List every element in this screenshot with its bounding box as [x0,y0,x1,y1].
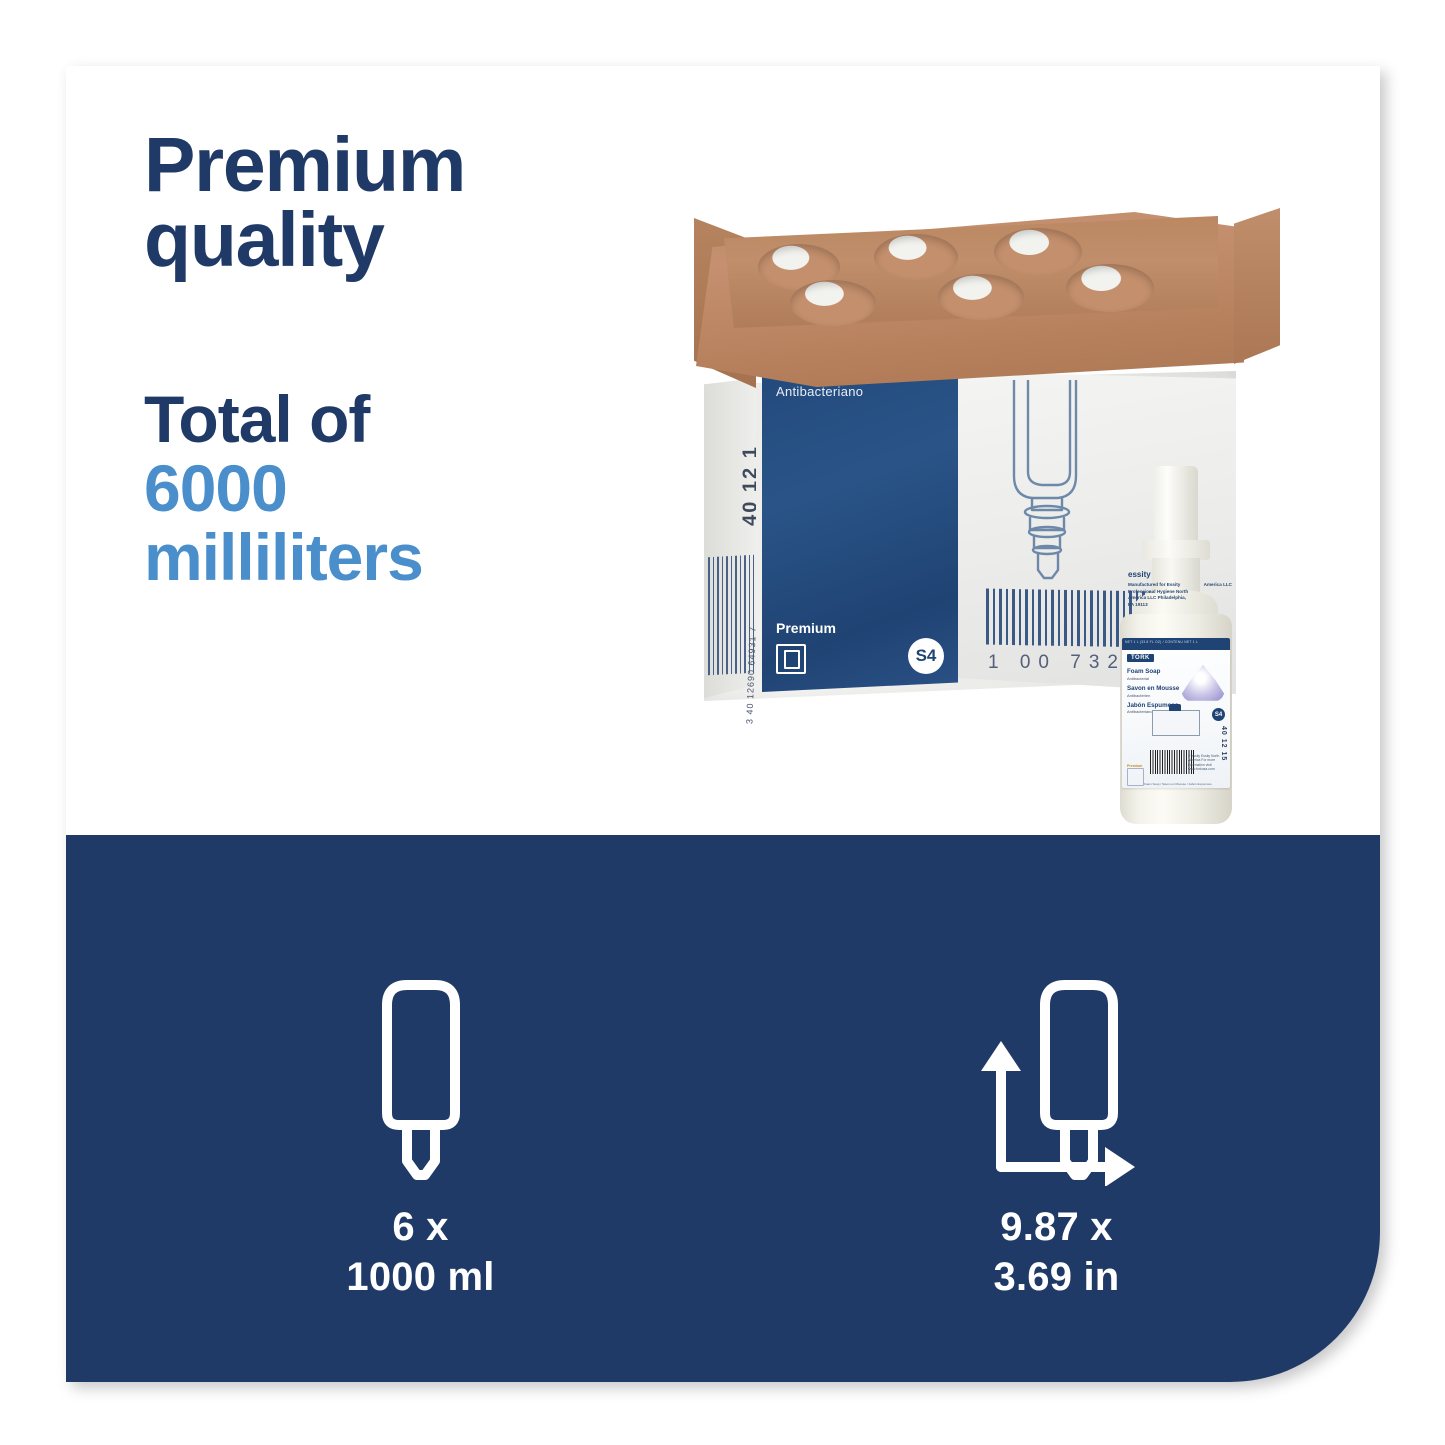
bottle-company-suffix: America LLC [1204,582,1232,587]
carton-flap-right [1234,208,1280,364]
premium-line-2: quality [144,203,624,278]
product-photograph: 40 12 1 3 40 12690 64931 7 Antibacterian… [666,166,1286,826]
bottle-pump-cap [1154,466,1198,544]
headings-block: Premium quality Total of 6000 milliliter… [144,128,624,593]
bottle-manufactured-for-text: Manufactured for Essity Professional Hyg… [1128,582,1190,609]
bottle-icon [365,971,477,1186]
total-volume-value: 6000 milliliters [144,454,624,594]
label-sub-fr: Antibactérien [1127,693,1179,698]
product-info-card: Premium quality Total of 6000 milliliter… [66,66,1380,1382]
label-brand-logo: TORK [1127,654,1154,662]
spec-quantity-caption: 6 x 1000 ml [346,1202,494,1302]
spec-dimensions-line-2: 3.69 in [994,1252,1120,1302]
label-essity-block: © essity Essity North America For more i… [1188,754,1226,772]
top-white-section: Premium quality Total of 6000 milliliter… [66,66,1380,835]
spec-dimensions-caption: 9.87 x 3.69 in [994,1202,1120,1302]
foam-swirl-illustration [1180,664,1226,704]
arrow-up-head [981,1041,1021,1071]
bottle-dimensions-icon [977,971,1137,1186]
premium-line-1: Premium [144,128,624,203]
carton-bottle-top-6 [1066,264,1154,312]
specifications-row: 6 x 1000 ml [66,971,1380,1302]
bottle-pump-collar [1142,540,1210,560]
label-certification-mark [1152,710,1200,736]
label-system-badge: S4 [1212,708,1225,721]
carton-system-badge: S4 [908,638,944,674]
carton-dispenser-icon [776,644,806,674]
carton-premium-label: Premium [776,620,836,636]
volume-unit: milliliters [144,523,624,593]
carton-bottle-top-4 [790,280,876,326]
carton-bottle-top-5 [938,274,1024,320]
spec-quantity-line-2: 1000 ml [346,1252,494,1302]
label-name-en: Foam Soap [1127,668,1179,676]
spec-dimensions: 9.87 x 3.69 in [723,971,1380,1302]
carton-left-barcode-number: 3 40 12690 64931 7 [744,626,757,724]
total-line-1: Total of [144,385,624,454]
dispenser-line-art-icon [984,380,1114,580]
carton-bottle-top-3 [994,228,1082,276]
carton-blue-face: Antibacteriano Premium S4 [762,374,958,692]
label-premium-icon [1127,768,1144,786]
label-footer-text: Foam Soap / Savon en Mousse / Jabón Espu… [1144,782,1212,786]
spec-dimensions-line-1: 9.87 x [994,1202,1120,1252]
label-sub-en: Antibacterial [1127,676,1179,681]
label-name-fr: Savon en Mousse [1127,685,1179,693]
volume-number: 6000 [144,454,624,524]
spec-quantity-line-1: 6 x [346,1202,494,1252]
spec-quantity: 6 x 1000 ml [66,971,723,1302]
label-net-content-strip: NET 1 L (33.8 FL OZ) / CONTENU NET 1 L [1122,638,1230,650]
product-bottle: essity Manufactured for Essity Professio… [1112,466,1240,826]
bottle-essity-logo: essity [1128,570,1151,579]
bottle-front-label: NET 1 L (33.8 FL OZ) / CONTENU NET 1 L T… [1122,638,1230,788]
premium-quality-heading: Premium quality [144,128,624,279]
total-of-heading: Total of [144,385,624,454]
infographic-canvas: Premium quality Total of 6000 milliliter… [0,0,1445,1445]
arrow-right-head [1105,1147,1135,1186]
specifications-section: 6 x 1000 ml [66,835,1380,1382]
carton-bottle-top-2 [874,234,958,280]
